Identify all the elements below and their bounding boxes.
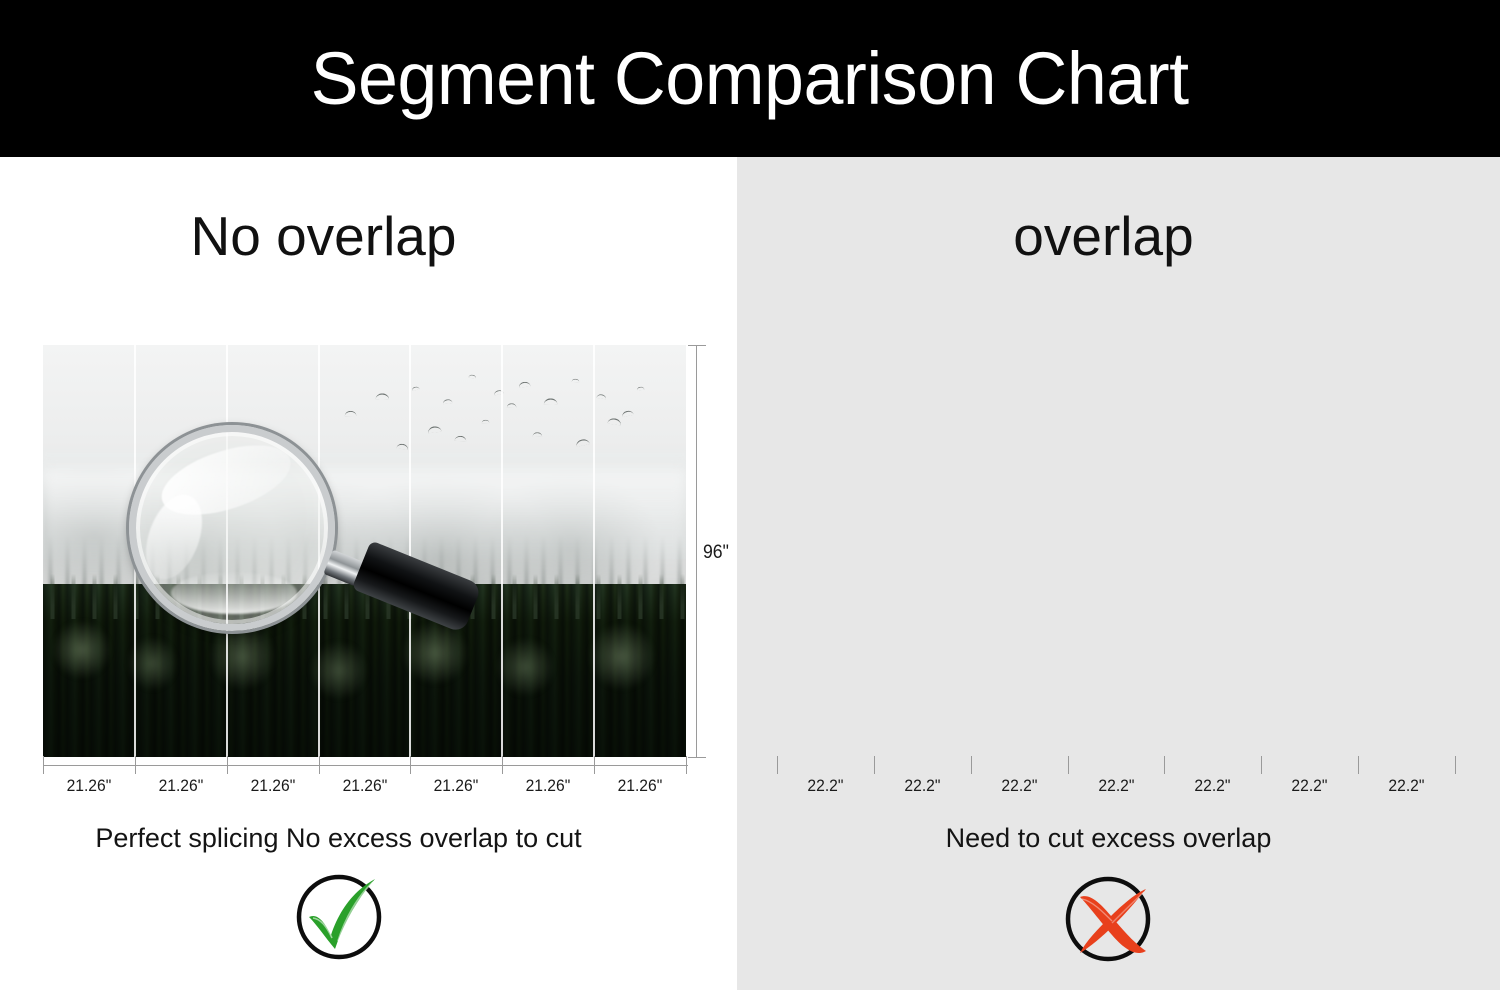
segment-comparison-chart-page: Segment Comparison Chart No overlap (0, 0, 1500, 990)
height-label-left: 96" (703, 543, 729, 562)
dimension-line-horizontal-left (43, 765, 688, 766)
dimension-line-vertical-left (696, 345, 697, 757)
caption-left: Perfect splicing No excess overlap to cu… (0, 825, 737, 852)
verdict-left (0, 869, 737, 965)
dimension-cap-bottom-left (688, 757, 706, 758)
panel-overlap: overlap (737, 157, 1500, 990)
verdict-right (737, 869, 1500, 969)
caption-right: Need to cut excess overlap (737, 825, 1500, 852)
title-banner: Segment Comparison Chart (0, 0, 1500, 157)
green-check-icon (291, 869, 387, 965)
seam-line (134, 345, 136, 757)
wallpaper-preview-left (43, 345, 686, 757)
red-cross-icon (1060, 869, 1160, 969)
seam-line (226, 345, 228, 757)
page-title: Segment Comparison Chart (311, 42, 1189, 116)
segment-seam-lines-left (43, 345, 686, 757)
seam-line (318, 345, 320, 757)
seam-line (593, 345, 595, 757)
seam-line (409, 345, 411, 757)
dimension-cap-top-left (688, 345, 706, 346)
panel-heading-right: overlap (737, 209, 1500, 264)
panel-heading-left: No overlap (0, 209, 737, 264)
panel-no-overlap: No overlap (0, 157, 737, 990)
seam-line (501, 345, 503, 757)
